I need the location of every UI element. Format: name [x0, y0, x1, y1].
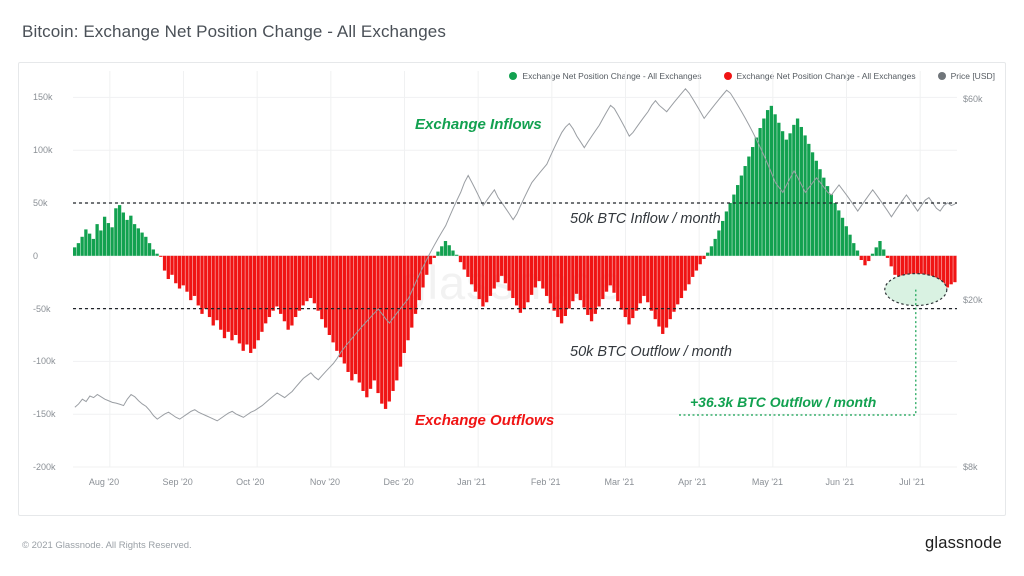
y-axis-tick-left: -50k — [33, 304, 51, 314]
x-axis-tick: Oct '20 — [236, 477, 264, 487]
y-axis-tick-right: $60k — [963, 94, 983, 104]
x-axis-tick: Apr '21 — [678, 477, 706, 487]
annotation-inflow-threshold: 50k BTC Inflow / month — [570, 211, 721, 227]
x-axis-tick: Jan '21 — [457, 477, 486, 487]
y-axis-tick-left: 0 — [33, 251, 38, 261]
x-axis-tick: May '21 — [752, 477, 783, 487]
y-axis-tick-left: -200k — [33, 462, 56, 472]
x-axis-tick: Nov '20 — [310, 477, 340, 487]
copyright-text: © 2021 Glassnode. All Rights Reserved. — [22, 540, 192, 551]
x-axis-tick: Sep '20 — [163, 477, 193, 487]
x-axis-tick: Feb '21 — [531, 477, 561, 487]
annotation-outflow-callout: +36.3k BTC Outflow / month — [690, 394, 876, 410]
glassnode-logo: glassnode — [925, 534, 1002, 553]
annotation-outflow-threshold: 50k BTC Outflow / month — [570, 344, 732, 360]
y-axis-tick-left: -150k — [33, 409, 56, 419]
y-axis-tick-left: 50k — [33, 198, 48, 208]
y-axis-tick-left: 100k — [33, 145, 53, 155]
y-axis-tick-right: $8k — [963, 462, 978, 472]
y-axis-tick-right: $20k — [963, 295, 983, 305]
y-axis-tick-left: 150k — [33, 92, 53, 102]
x-axis-tick: Jun '21 — [826, 477, 855, 487]
chart-card: Exchange Net Position Change - All Excha… — [18, 62, 1006, 516]
annotation-exchange-inflows: Exchange Inflows — [415, 116, 542, 133]
y-axis-tick-left: -100k — [33, 356, 56, 366]
chart-page: Bitcoin: Exchange Net Position Change - … — [0, 0, 1024, 576]
x-axis-tick: Aug '20 — [89, 477, 119, 487]
x-axis-tick: Jul '21 — [899, 477, 925, 487]
annotation-exchange-outflows: Exchange Outflows — [415, 412, 554, 429]
x-axis-tick: Mar '21 — [605, 477, 635, 487]
page-title: Bitcoin: Exchange Net Position Change - … — [22, 22, 446, 42]
x-axis-tick: Dec '20 — [384, 477, 414, 487]
